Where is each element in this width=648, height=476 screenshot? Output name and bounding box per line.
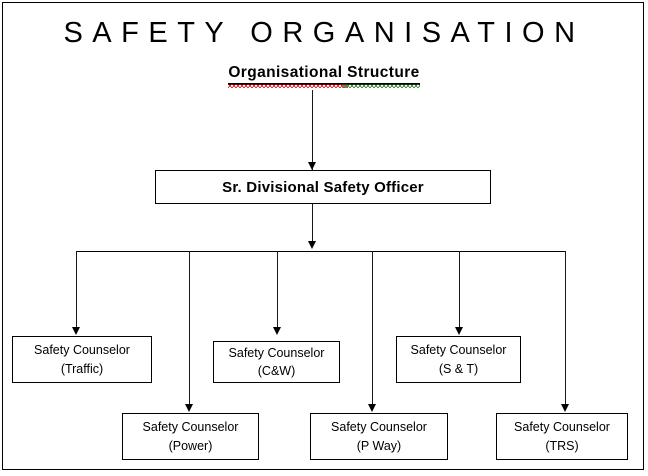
node-label-line2: (S & T): [439, 360, 478, 378]
arrowhead-root: [308, 162, 316, 170]
page-title: SAFETY ORGANISATION: [0, 18, 648, 50]
drop-line-cw: [277, 251, 278, 328]
arrowhead-traffic: [72, 327, 80, 335]
node-label-line1: Safety Counselor: [143, 418, 239, 436]
connector-root-to-bus: [312, 204, 313, 244]
drop-line-trs: [565, 251, 566, 405]
arrowhead-trs: [561, 404, 569, 412]
node-label-line2: (P Way): [357, 437, 401, 455]
arrowhead-power: [185, 404, 193, 412]
node-safety-counselor-st[interactable]: Safety Counselor (S & T): [396, 336, 521, 383]
org-chart-canvas: SAFETY ORGANISATION Organisational Struc…: [0, 0, 648, 476]
node-label-line2: (C&W): [258, 362, 296, 380]
node-label-line1: Safety Counselor: [229, 344, 325, 362]
node-label-line2: (Traffic): [61, 360, 103, 378]
drop-line-traffic: [76, 251, 77, 328]
connector-title-to-root: [312, 90, 313, 170]
arrowhead-bus: [308, 241, 316, 249]
node-label-line1: Safety Counselor: [411, 341, 507, 359]
node-safety-counselor-traffic[interactable]: Safety Counselor (Traffic): [12, 336, 152, 383]
node-safety-counselor-trs[interactable]: Safety Counselor (TRS): [496, 413, 628, 460]
drop-line-power: [189, 251, 190, 405]
node-sr-divisional-safety-officer[interactable]: Sr. Divisional Safety Officer: [155, 170, 491, 204]
node-label-line1: Safety Counselor: [514, 418, 610, 436]
arrowhead-st: [455, 327, 463, 335]
arrowhead-pway: [368, 404, 376, 412]
node-label: Sr. Divisional Safety Officer: [222, 179, 424, 196]
node-label-line1: Safety Counselor: [34, 341, 130, 359]
distribution-bus: [76, 251, 566, 252]
drop-line-st: [459, 251, 460, 328]
node-safety-counselor-power[interactable]: Safety Counselor (Power): [122, 413, 259, 460]
node-label-line1: Safety Counselor: [331, 418, 427, 436]
node-safety-counselor-cw[interactable]: Safety Counselor (C&W): [213, 341, 340, 383]
subtitle: Organisational Structure: [228, 64, 419, 85]
node-safety-counselor-pway[interactable]: Safety Counselor (P Way): [310, 413, 448, 460]
grammarcheck-squiggle-green: [342, 84, 420, 88]
node-label-line2: (Power): [169, 437, 213, 455]
node-label-line2: (TRS): [545, 437, 578, 455]
arrowhead-cw: [273, 327, 281, 335]
subtitle-text: Organisational Structure: [228, 64, 419, 81]
drop-line-pway: [372, 251, 373, 405]
spellcheck-squiggle-red: [228, 84, 348, 88]
subtitle-container: Organisational Structure: [0, 64, 648, 85]
